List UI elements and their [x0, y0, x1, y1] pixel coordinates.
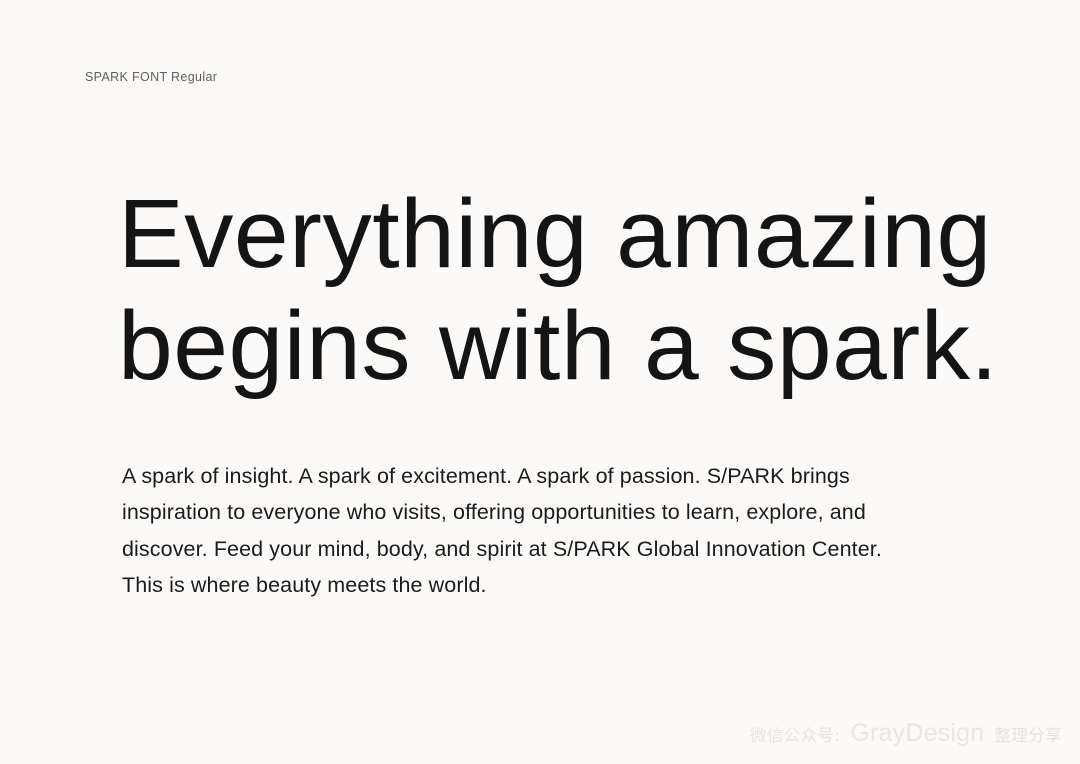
font-specimen-label: SPARK FONT Regular [85, 70, 217, 84]
body-line-1: A spark of insight. A spark of excitemen… [122, 458, 1002, 494]
specimen-page: SPARK FONT Regular Everything amazing be… [0, 0, 1080, 764]
body-paragraph: A spark of insight. A spark of excitemen… [122, 458, 1002, 603]
watermark: 微信公众号: GrayDesign 整理分享 [750, 719, 1062, 748]
watermark-suffix: 整理分享 [994, 722, 1062, 746]
body-line-2: inspiration to everyone who visits, offe… [122, 494, 1002, 530]
headline-line-2: begins with a spark. [118, 290, 1011, 402]
watermark-prefix: 微信公众号: [750, 722, 840, 746]
headline-line-1: Everything amazing [118, 178, 1011, 290]
headline-block: Everything amazing begins with a spark. [118, 178, 998, 402]
body-line-4: This is where beauty meets the world. [122, 567, 1002, 603]
watermark-brand: GrayDesign [850, 719, 984, 748]
body-line-3: discover. Feed your mind, body, and spir… [122, 531, 1002, 567]
